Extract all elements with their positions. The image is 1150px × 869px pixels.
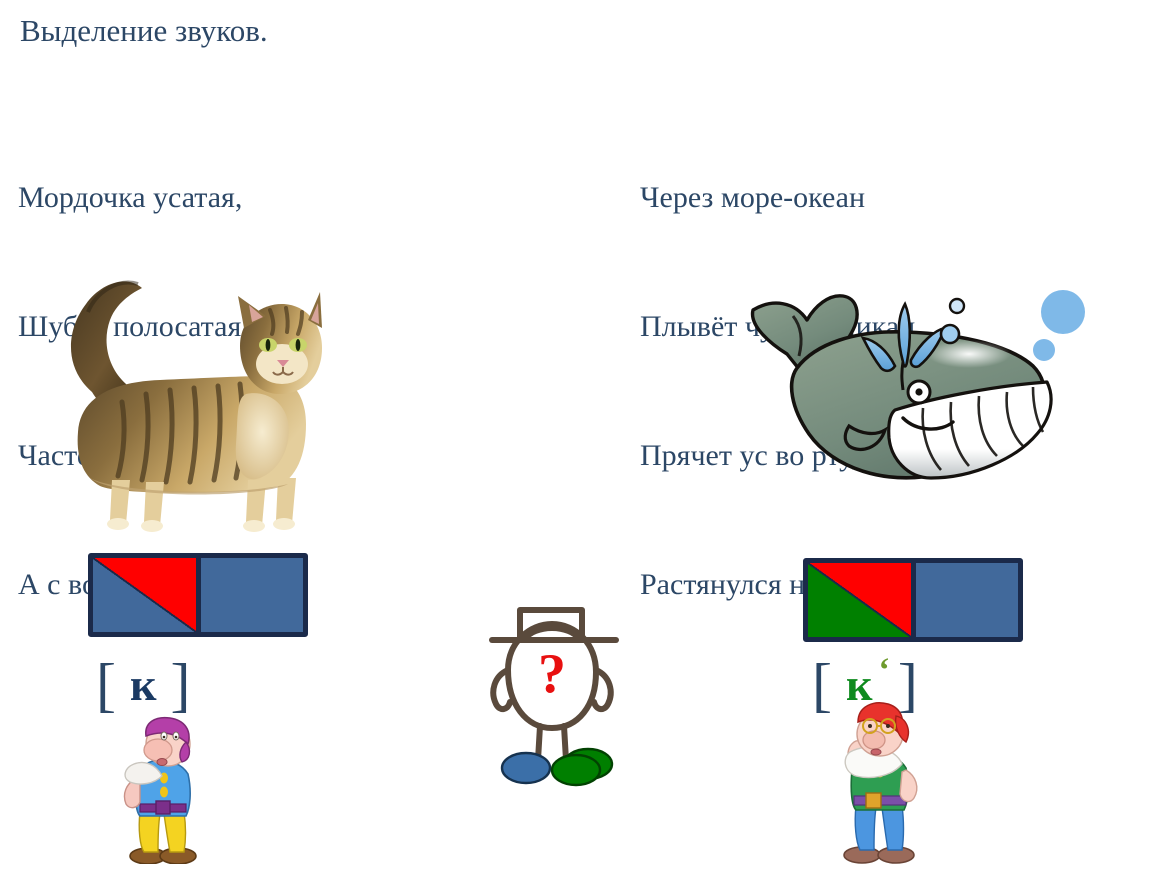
dwarf-left-image — [112, 716, 216, 864]
foot-blue — [502, 753, 550, 783]
scheme-cell-consonant-hard[interactable] — [93, 558, 196, 632]
bracket-open: [ — [96, 655, 116, 715]
scheme-cell-consonant-soft[interactable] — [808, 563, 911, 637]
scheme-cell-consonant[interactable] — [911, 563, 1019, 637]
sound-scheme-left[interactable] — [88, 553, 308, 637]
scheme-cell-diagonal-fill — [93, 558, 196, 632]
transcription-left: [ к ] — [96, 655, 190, 715]
whale-image — [745, 282, 1090, 497]
question-mark-glyph: ? — [538, 643, 566, 705]
sound-scheme-right[interactable] — [803, 558, 1023, 642]
dwarf-right-image — [824, 700, 934, 864]
foot-green-front — [552, 755, 600, 785]
question-man-image: ? — [478, 604, 643, 794]
page-title: Выделение звуков. — [20, 12, 268, 50]
sound-letter: к — [130, 662, 157, 708]
softness-mark: ‘ — [879, 654, 890, 688]
riddle-line: Мордочка усатая, — [18, 176, 289, 219]
cat-image — [30, 272, 330, 540]
bracket-close: ] — [171, 655, 191, 715]
bubble-small — [1033, 339, 1055, 361]
scheme-cell-diagonal-fill — [808, 563, 911, 637]
scheme-cell-consonant[interactable] — [196, 558, 304, 632]
riddle-line: Через море-океан — [640, 176, 923, 219]
slide-canvas: Выделение звуков. Мордочка усатая, Шубка… — [0, 0, 1150, 864]
bubble-large — [1041, 290, 1085, 334]
